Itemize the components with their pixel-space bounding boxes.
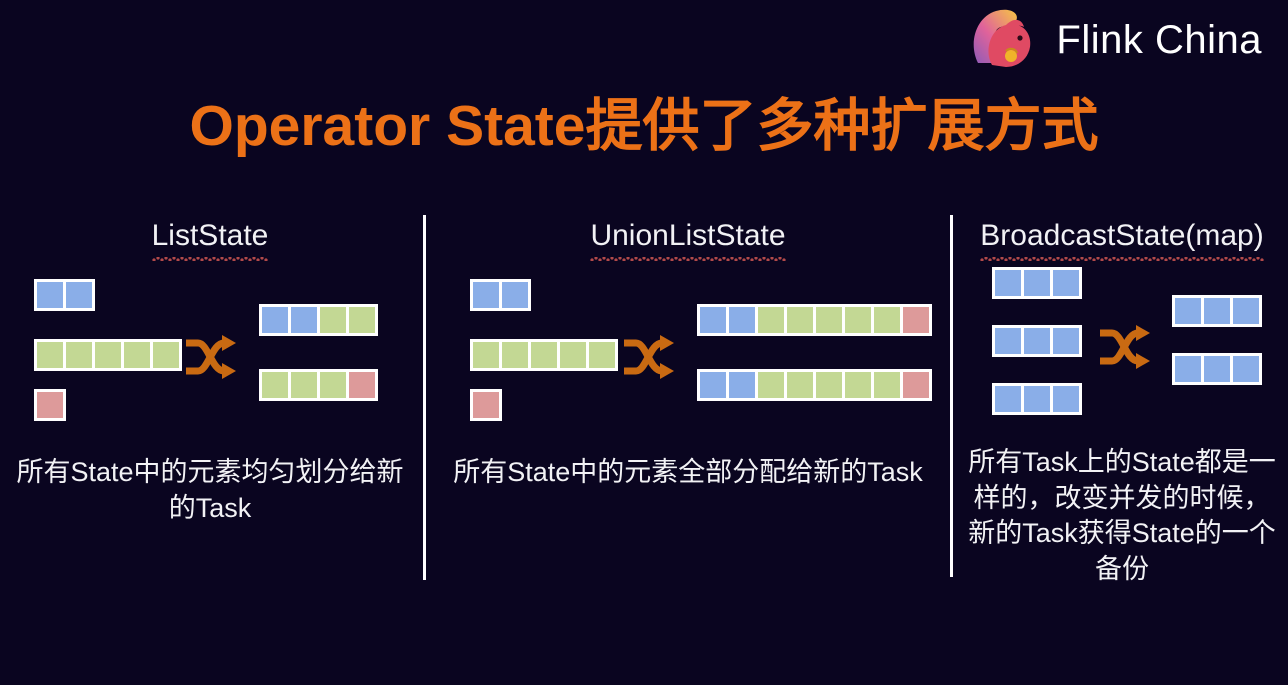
state-cell bbox=[903, 372, 929, 398]
state-cell bbox=[845, 372, 871, 398]
state-cell bbox=[874, 307, 900, 333]
source-group-row-2 bbox=[34, 339, 182, 371]
source-group-row-1 bbox=[34, 279, 95, 311]
source-group-row-3 bbox=[470, 389, 502, 421]
state-cell bbox=[473, 392, 499, 418]
state-cell bbox=[95, 342, 121, 368]
page-title: Operator State提供了多种扩展方式 bbox=[0, 95, 1288, 158]
state-cell bbox=[903, 307, 929, 333]
column-heading-liststate: ListState bbox=[0, 218, 420, 255]
state-cell bbox=[66, 342, 92, 368]
state-cell bbox=[502, 282, 528, 308]
state-cell bbox=[37, 392, 63, 418]
shuffle-arrows-icon bbox=[622, 331, 680, 383]
source-group-row-2 bbox=[470, 339, 618, 371]
state-cell bbox=[995, 328, 1021, 354]
state-cell bbox=[758, 307, 784, 333]
state-cell bbox=[473, 342, 499, 368]
column-caption-broadcaststate: 所有Task上的State都是一样的，改变并发的时候，新的Task获得State… bbox=[956, 445, 1288, 589]
column-unionliststate: UnionListState bbox=[428, 218, 948, 491]
state-cell bbox=[1053, 328, 1079, 354]
state-cell bbox=[700, 372, 726, 398]
state-cell bbox=[1024, 328, 1050, 354]
target-group-row-1 bbox=[697, 304, 932, 336]
state-cell bbox=[560, 342, 586, 368]
state-cell bbox=[473, 282, 499, 308]
state-cell bbox=[700, 307, 726, 333]
state-cell bbox=[995, 386, 1021, 412]
state-cell bbox=[816, 372, 842, 398]
state-cell bbox=[320, 372, 346, 398]
brand-name: Flink China bbox=[1056, 20, 1262, 60]
column-heading-text: ListState bbox=[152, 218, 269, 255]
state-cell bbox=[816, 307, 842, 333]
squirrel-logo-icon bbox=[970, 7, 1042, 73]
state-cell bbox=[66, 282, 92, 308]
shuffle-arrows-icon bbox=[1098, 321, 1156, 373]
state-cell bbox=[1053, 270, 1079, 296]
column-divider-1 bbox=[423, 215, 426, 580]
source-group-row-1 bbox=[992, 267, 1082, 299]
state-cell bbox=[758, 372, 784, 398]
target-group-row-2 bbox=[1172, 353, 1262, 385]
state-cell bbox=[787, 372, 813, 398]
state-cell bbox=[787, 307, 813, 333]
state-cell bbox=[153, 342, 179, 368]
state-cell bbox=[1053, 386, 1079, 412]
state-cell bbox=[124, 342, 150, 368]
state-cell bbox=[1204, 356, 1230, 382]
state-cell bbox=[502, 342, 528, 368]
state-cell bbox=[1233, 356, 1259, 382]
state-cell bbox=[37, 282, 63, 308]
state-cell bbox=[1175, 298, 1201, 324]
diagram-unionliststate bbox=[428, 273, 948, 433]
column-heading-broadcaststate: BroadcastState(map) bbox=[956, 218, 1288, 255]
state-cell bbox=[291, 307, 317, 333]
source-group-row-1 bbox=[470, 279, 531, 311]
state-cell bbox=[349, 372, 375, 398]
state-cell bbox=[320, 307, 346, 333]
state-cell bbox=[349, 307, 375, 333]
state-cell bbox=[729, 307, 755, 333]
column-divider-2 bbox=[950, 215, 953, 577]
brand-logo-area: Flink China bbox=[970, 4, 1262, 76]
shuffle-arrows-icon bbox=[184, 331, 242, 383]
diagram-liststate bbox=[0, 273, 420, 433]
state-cell bbox=[1024, 386, 1050, 412]
source-group-row-2 bbox=[992, 325, 1082, 357]
state-cell bbox=[1175, 356, 1201, 382]
state-cell bbox=[1233, 298, 1259, 324]
target-group-row-1 bbox=[1172, 295, 1262, 327]
column-liststate: ListState bbox=[0, 218, 420, 526]
column-heading-text: UnionListState bbox=[590, 218, 785, 255]
source-group-row-3 bbox=[34, 389, 66, 421]
target-group-row-2 bbox=[697, 369, 932, 401]
column-heading-unionliststate: UnionListState bbox=[428, 218, 948, 255]
state-cell bbox=[589, 342, 615, 368]
state-cell bbox=[1024, 270, 1050, 296]
target-group-row-1 bbox=[259, 304, 378, 336]
column-heading-text: BroadcastState(map) bbox=[980, 218, 1263, 255]
diagram-broadcaststate bbox=[956, 267, 1288, 427]
state-cell bbox=[37, 342, 63, 368]
state-cell bbox=[262, 372, 288, 398]
column-caption-liststate: 所有State中的元素均匀划分给新的Task bbox=[0, 455, 420, 527]
column-broadcaststate: BroadcastState(map) bbox=[956, 218, 1288, 588]
state-cell bbox=[291, 372, 317, 398]
column-caption-unionliststate: 所有State中的元素全部分配给新的Task bbox=[428, 455, 948, 491]
state-cell bbox=[729, 372, 755, 398]
state-cell bbox=[845, 307, 871, 333]
state-cell bbox=[874, 372, 900, 398]
state-cell bbox=[531, 342, 557, 368]
source-group-row-3 bbox=[992, 383, 1082, 415]
target-group-row-2 bbox=[259, 369, 378, 401]
state-cell bbox=[995, 270, 1021, 296]
state-cell bbox=[262, 307, 288, 333]
state-cell bbox=[1204, 298, 1230, 324]
